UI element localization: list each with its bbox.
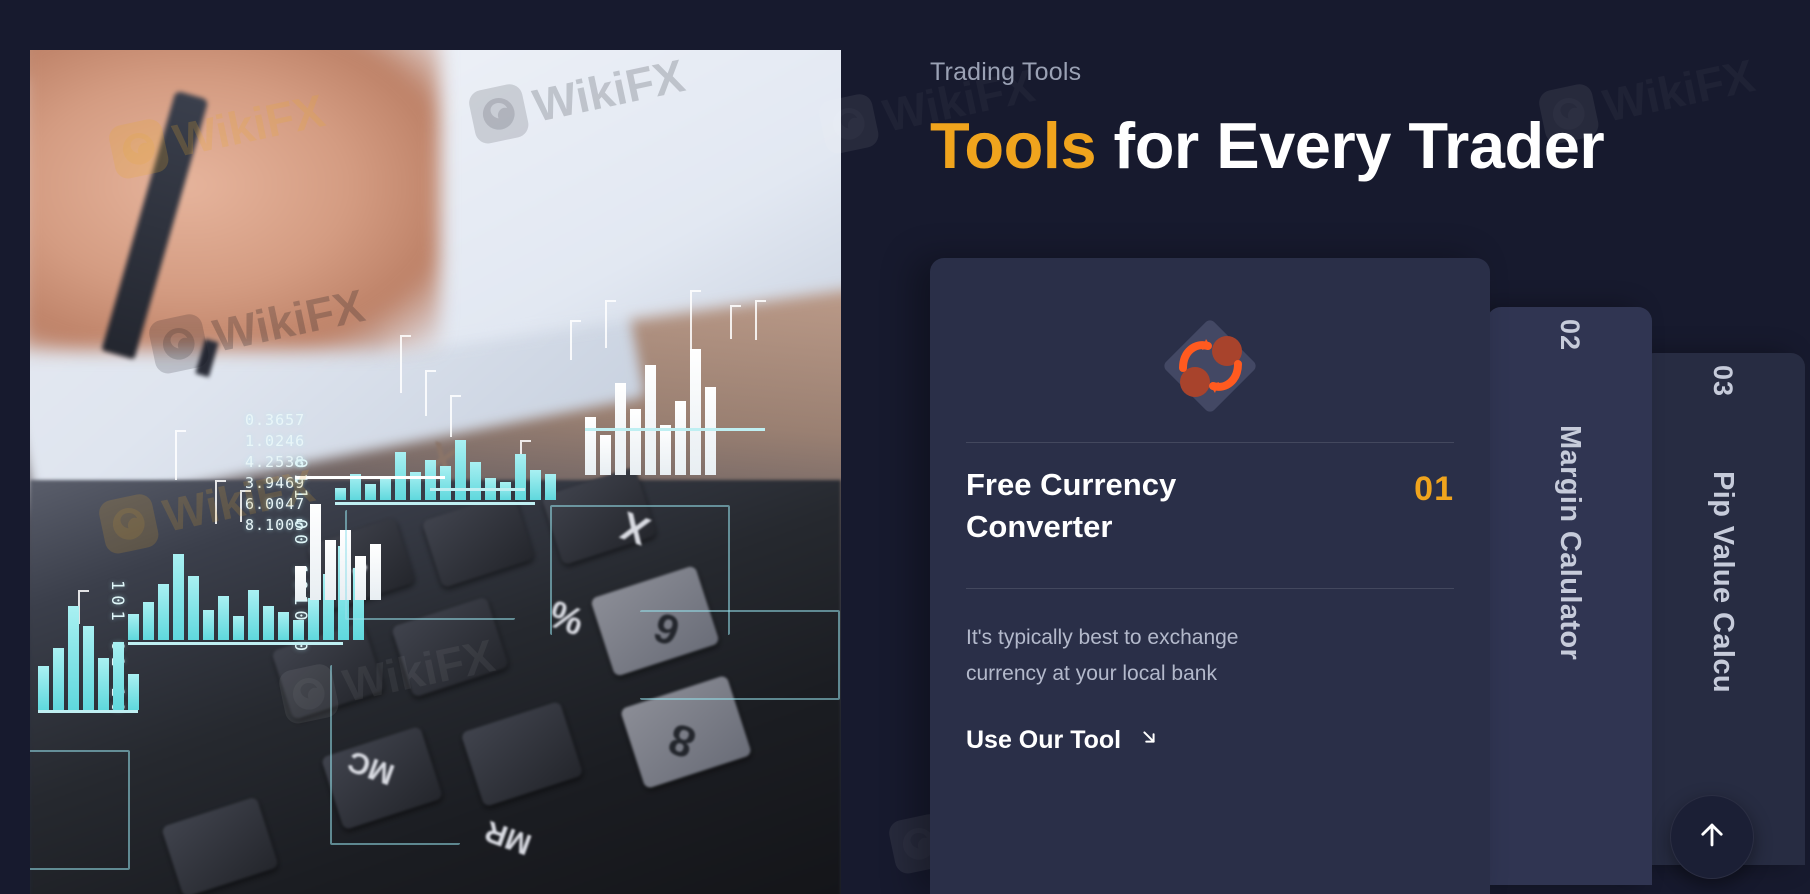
use-our-tool-label: Use Our Tool: [966, 726, 1121, 755]
circuit-trace: [345, 510, 515, 620]
tool-card-03-title: Pip Value Calcu: [1706, 471, 1739, 693]
bar-baseline: [430, 488, 525, 491]
bar-baseline-white: [585, 428, 765, 431]
candle-tick: [425, 370, 427, 416]
tool-card-01-number: 01: [1414, 470, 1454, 509]
page-root: ↲ MC MR % 6 8 X X 0.36571.02464.25383.94…: [0, 0, 1810, 894]
candle-tick: [240, 490, 242, 522]
hand: [30, 50, 440, 350]
tool-card-02-number: 02: [1554, 319, 1585, 351]
arrow-up-icon: [1695, 818, 1729, 857]
scroll-to-top-button[interactable]: [1670, 795, 1754, 879]
currency-exchange-icon: [1150, 306, 1270, 426]
candle-tick: [215, 480, 217, 524]
circuit-trace: [640, 610, 840, 700]
card-divider-bottom: [966, 588, 1454, 589]
hero-image: ↲ MC MR % 6 8 X X 0.36571.02464.25383.94…: [30, 50, 841, 894]
use-our-tool-link[interactable]: Use Our Tool: [966, 726, 1160, 755]
page-title-accent: Tools: [930, 109, 1096, 182]
bar-baseline-white: [295, 476, 445, 479]
bar-baseline: [38, 710, 138, 713]
bar-baseline: [128, 642, 343, 645]
candle-tick: [730, 305, 732, 339]
card-divider-top: [966, 442, 1454, 443]
circuit-trace: [30, 750, 130, 870]
tool-card-02[interactable]: 02 Margin Calulator: [1487, 307, 1652, 885]
page-title: Tools for Every Trader: [930, 108, 1604, 183]
bar-group-white-right: [585, 335, 716, 475]
tool-card-01-title: Free Currency Converter: [966, 464, 1296, 548]
arrow-down-right-icon: [1138, 726, 1160, 755]
bar-group-left: [38, 590, 139, 710]
tool-card-01-description: It's typically best to exchange currency…: [966, 620, 1306, 692]
section-eyebrow: Trading Tools: [930, 58, 1081, 87]
tool-card-03[interactable]: 03 Pip Value Calcu: [1640, 353, 1805, 865]
tool-card-03-number: 03: [1707, 365, 1738, 397]
tool-card-01[interactable]: Free Currency Converter 01 It's typicall…: [930, 258, 1490, 894]
candle-tick: [570, 320, 572, 360]
tool-card-02-label-wrap: Margin Calulator: [1553, 425, 1586, 855]
candle-tick: [755, 300, 757, 340]
candle-tick: [175, 430, 177, 480]
candle-tick: [400, 335, 402, 393]
tool-card-02-title: Margin Calulator: [1553, 425, 1586, 660]
circuit-trace: [330, 665, 460, 845]
page-title-rest: for Every Trader: [1096, 109, 1604, 182]
